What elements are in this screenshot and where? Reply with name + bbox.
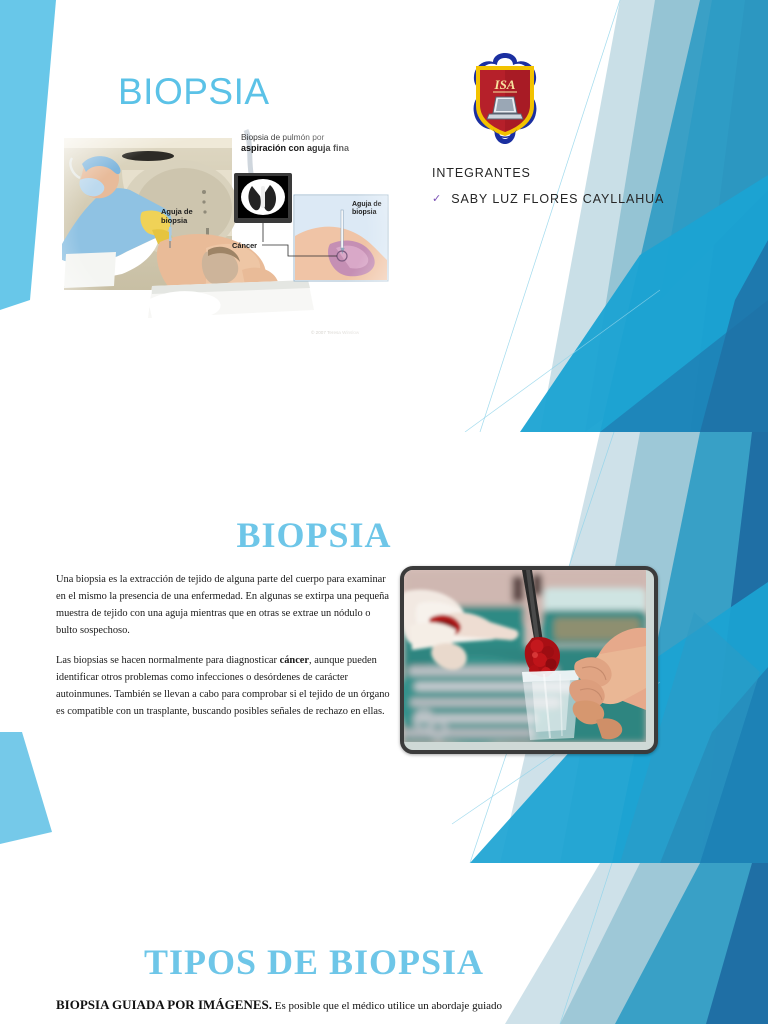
integrantes-heading: INTEGRANTES <box>432 166 732 180</box>
slide-2-body-text: Una biopsia es la extracción de tejido d… <box>56 572 391 735</box>
member-name: SABY LUZ FLORES CAYLLAHUA <box>451 192 664 206</box>
slide-1-title: BIOPSIA <box>118 73 448 110</box>
text-run: Las biopsias se hacen normalmente para d… <box>56 655 280 666</box>
isa-shield-logo: ISA <box>455 49 555 149</box>
slide-2-title: BIOPSIA <box>0 514 628 556</box>
text-run: Una biopsia es la extracción de tejido d… <box>56 574 389 636</box>
surgical-tissue-sample-photo <box>400 566 658 754</box>
slide-3-body-continuation: Es posible que el médico utilice un abor… <box>272 1000 502 1012</box>
slide-3-title: TIPOS DE BIOPSIA <box>0 941 628 983</box>
slide-3-lead-text: BIOPSIA GUIADA POR IMÁGENES. <box>56 997 272 1012</box>
slide-1: BIOPSIA ISA <box>0 0 768 432</box>
slide-3: TIPOS DE BIOPSIA BIOPSIA GUIADA POR IMÁG… <box>0 863 768 1024</box>
integrantes-block: INTEGRANTES ✓ SABY LUZ FLORES CAYLLAHUA <box>432 166 732 206</box>
slide-3-body-text: BIOPSIA GUIADA POR IMÁGENES. Es posible … <box>56 995 716 1015</box>
paragraph: Las biopsias se hacen normalmente para d… <box>56 653 391 720</box>
logo-monogram: ISA <box>494 77 516 92</box>
slide-deck-page: BIOPSIA ISA <box>0 0 768 1024</box>
list-item: ✓ SABY LUZ FLORES CAYLLAHUA <box>432 192 732 206</box>
check-icon: ✓ <box>432 194 441 205</box>
emphasis-text: cáncer <box>280 655 309 666</box>
lung-biopsy-illustration: Aguja de biopsia <box>56 124 389 339</box>
paragraph: Una biopsia es la extracción de tejido d… <box>56 572 391 639</box>
slide-2: BIOPSIA Una biopsia es la extracción de … <box>0 432 768 863</box>
